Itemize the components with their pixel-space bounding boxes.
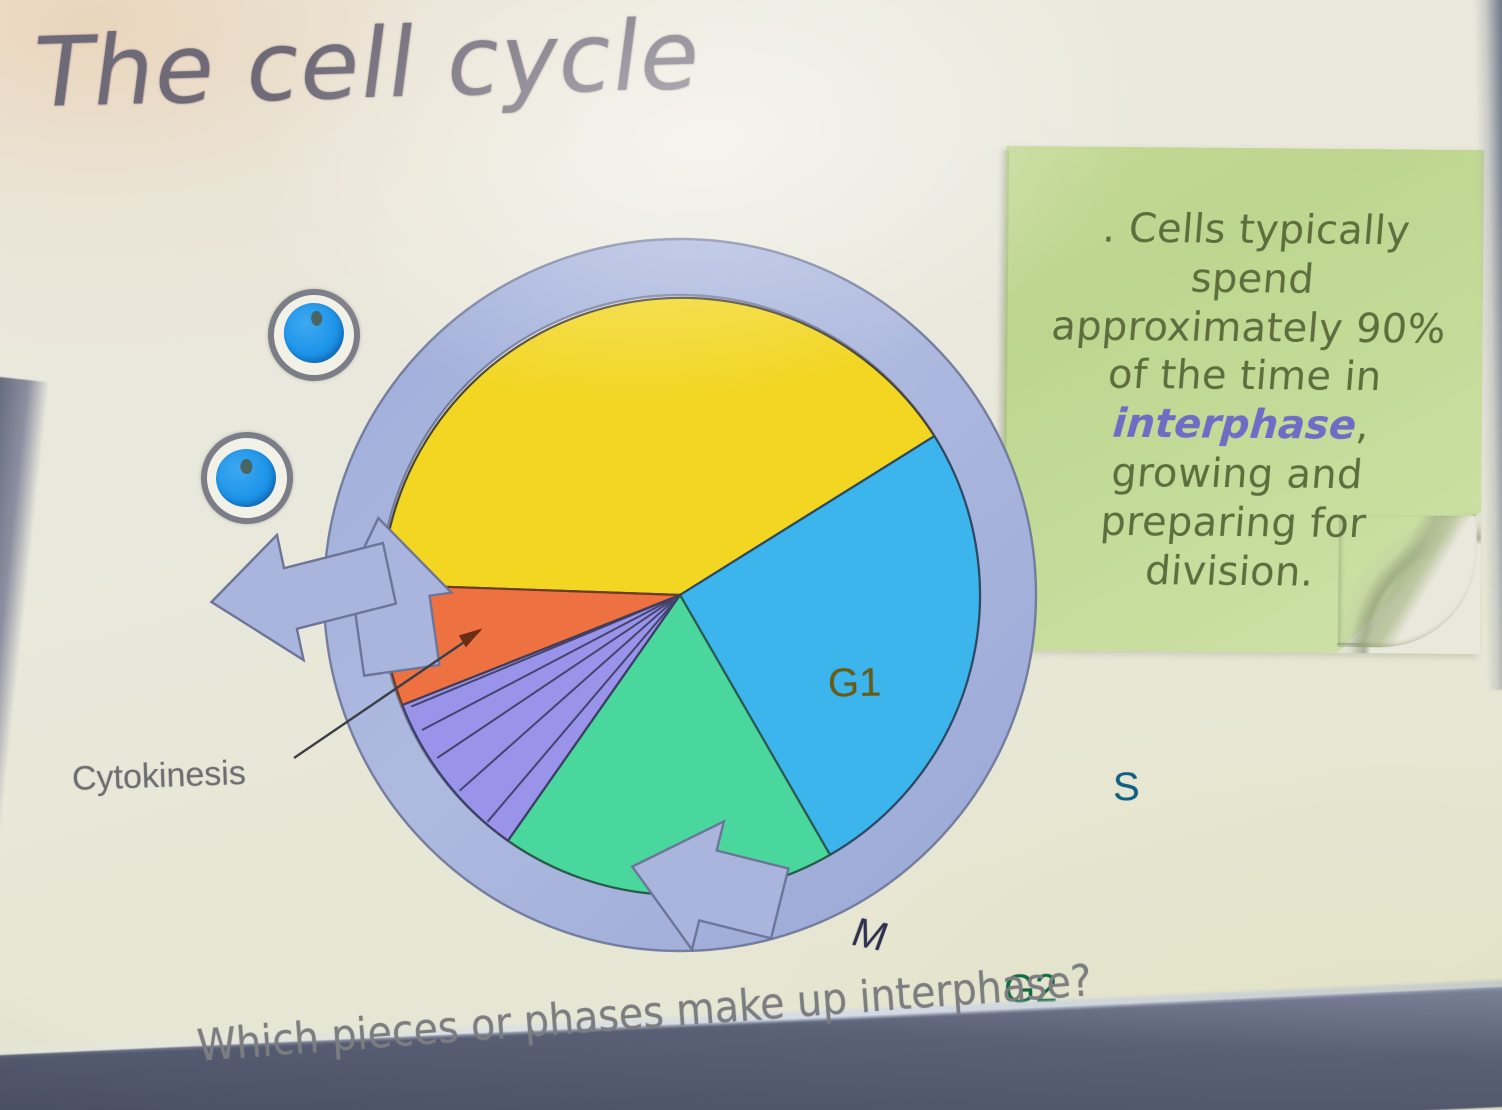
pie-label-g1: G1: [828, 661, 882, 707]
note-text-prefix: . Cells typically spend approximately 90…: [1050, 206, 1448, 401]
cytokinesis-leader-line: [280, 580, 560, 770]
note-emphasis-interphase: interphase: [1111, 401, 1358, 449]
page-title: The cell cycle: [28, 6, 707, 121]
slide-photo: The cell cycle . Cells typically spend a…: [0, 0, 1502, 1110]
sticky-note: . Cells typically spend approximately 90…: [1002, 146, 1484, 654]
cytokinesis-label: Cytokinesis: [71, 754, 246, 799]
cell-icon-bottom: [199, 430, 296, 527]
note-curled-corner: [1330, 503, 1481, 654]
pie-label-s: S: [1113, 765, 1140, 810]
